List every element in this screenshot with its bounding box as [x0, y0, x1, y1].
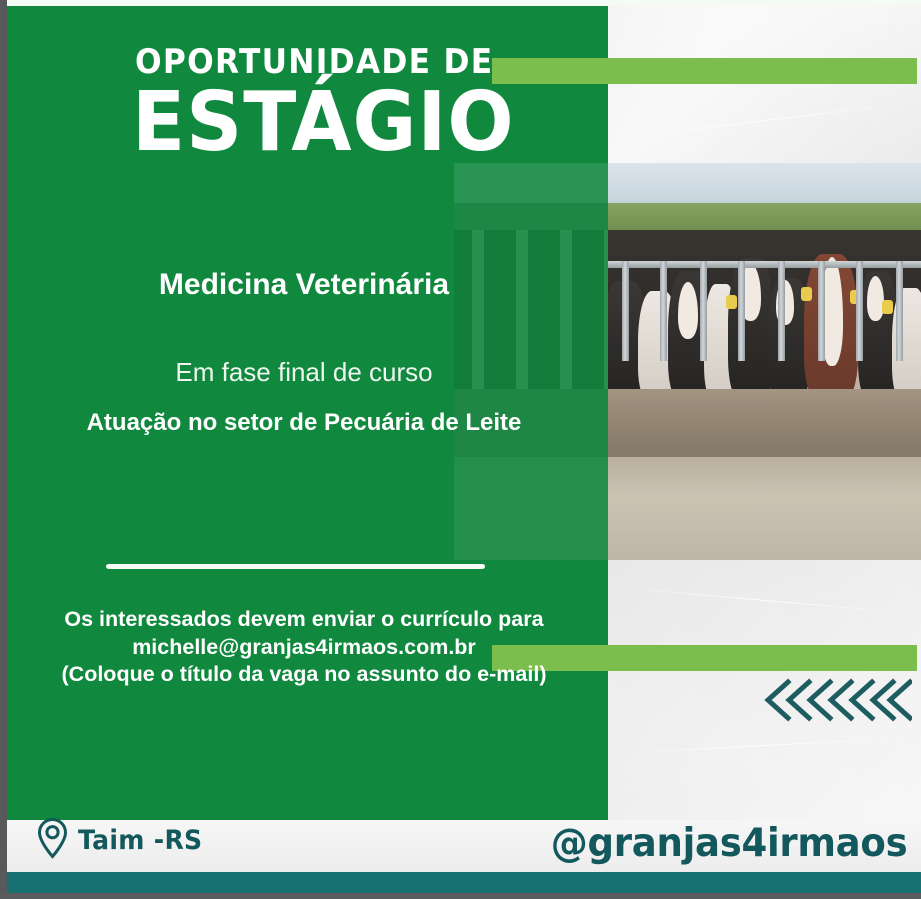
double-chevron-left-icon — [762, 676, 912, 724]
contact-email[interactable]: michelle@granjas4irmaos.com.br — [0, 634, 608, 662]
accent-bar-top — [492, 58, 917, 84]
contact-line-instruction: Os interessados devem enviar o currículo… — [0, 606, 608, 634]
course-name: Medicina Veterinária — [0, 268, 608, 302]
contact-block: Os interessados devem enviar o currículo… — [0, 606, 608, 689]
contact-line-note: (Coloque o título da vaga no assunto do … — [0, 661, 608, 689]
location-pin-icon — [36, 817, 69, 863]
instagram-handle[interactable]: @granjas4irmaos — [550, 821, 907, 866]
top-edge-strip — [7, 0, 921, 6]
bottom-edge-strip — [0, 893, 921, 899]
footer-teal-strip — [7, 872, 921, 893]
left-edge-strip — [0, 0, 7, 899]
location-block: Taim -RS — [36, 817, 212, 863]
poster-title: ESTÁGIO — [132, 82, 515, 164]
location-label: Taim -RS — [78, 825, 202, 856]
course-stage: Em fase final de curso — [0, 357, 608, 388]
photo-haze — [608, 163, 921, 560]
instagram-job-poster: OPORTUNIDADE DE ESTÁGIO Medicina Veterin… — [0, 0, 921, 899]
dairy-cows-photo — [608, 163, 921, 560]
section-divider — [106, 564, 485, 569]
work-sector: Atuação no setor de Pecuária de Leite — [0, 409, 608, 437]
